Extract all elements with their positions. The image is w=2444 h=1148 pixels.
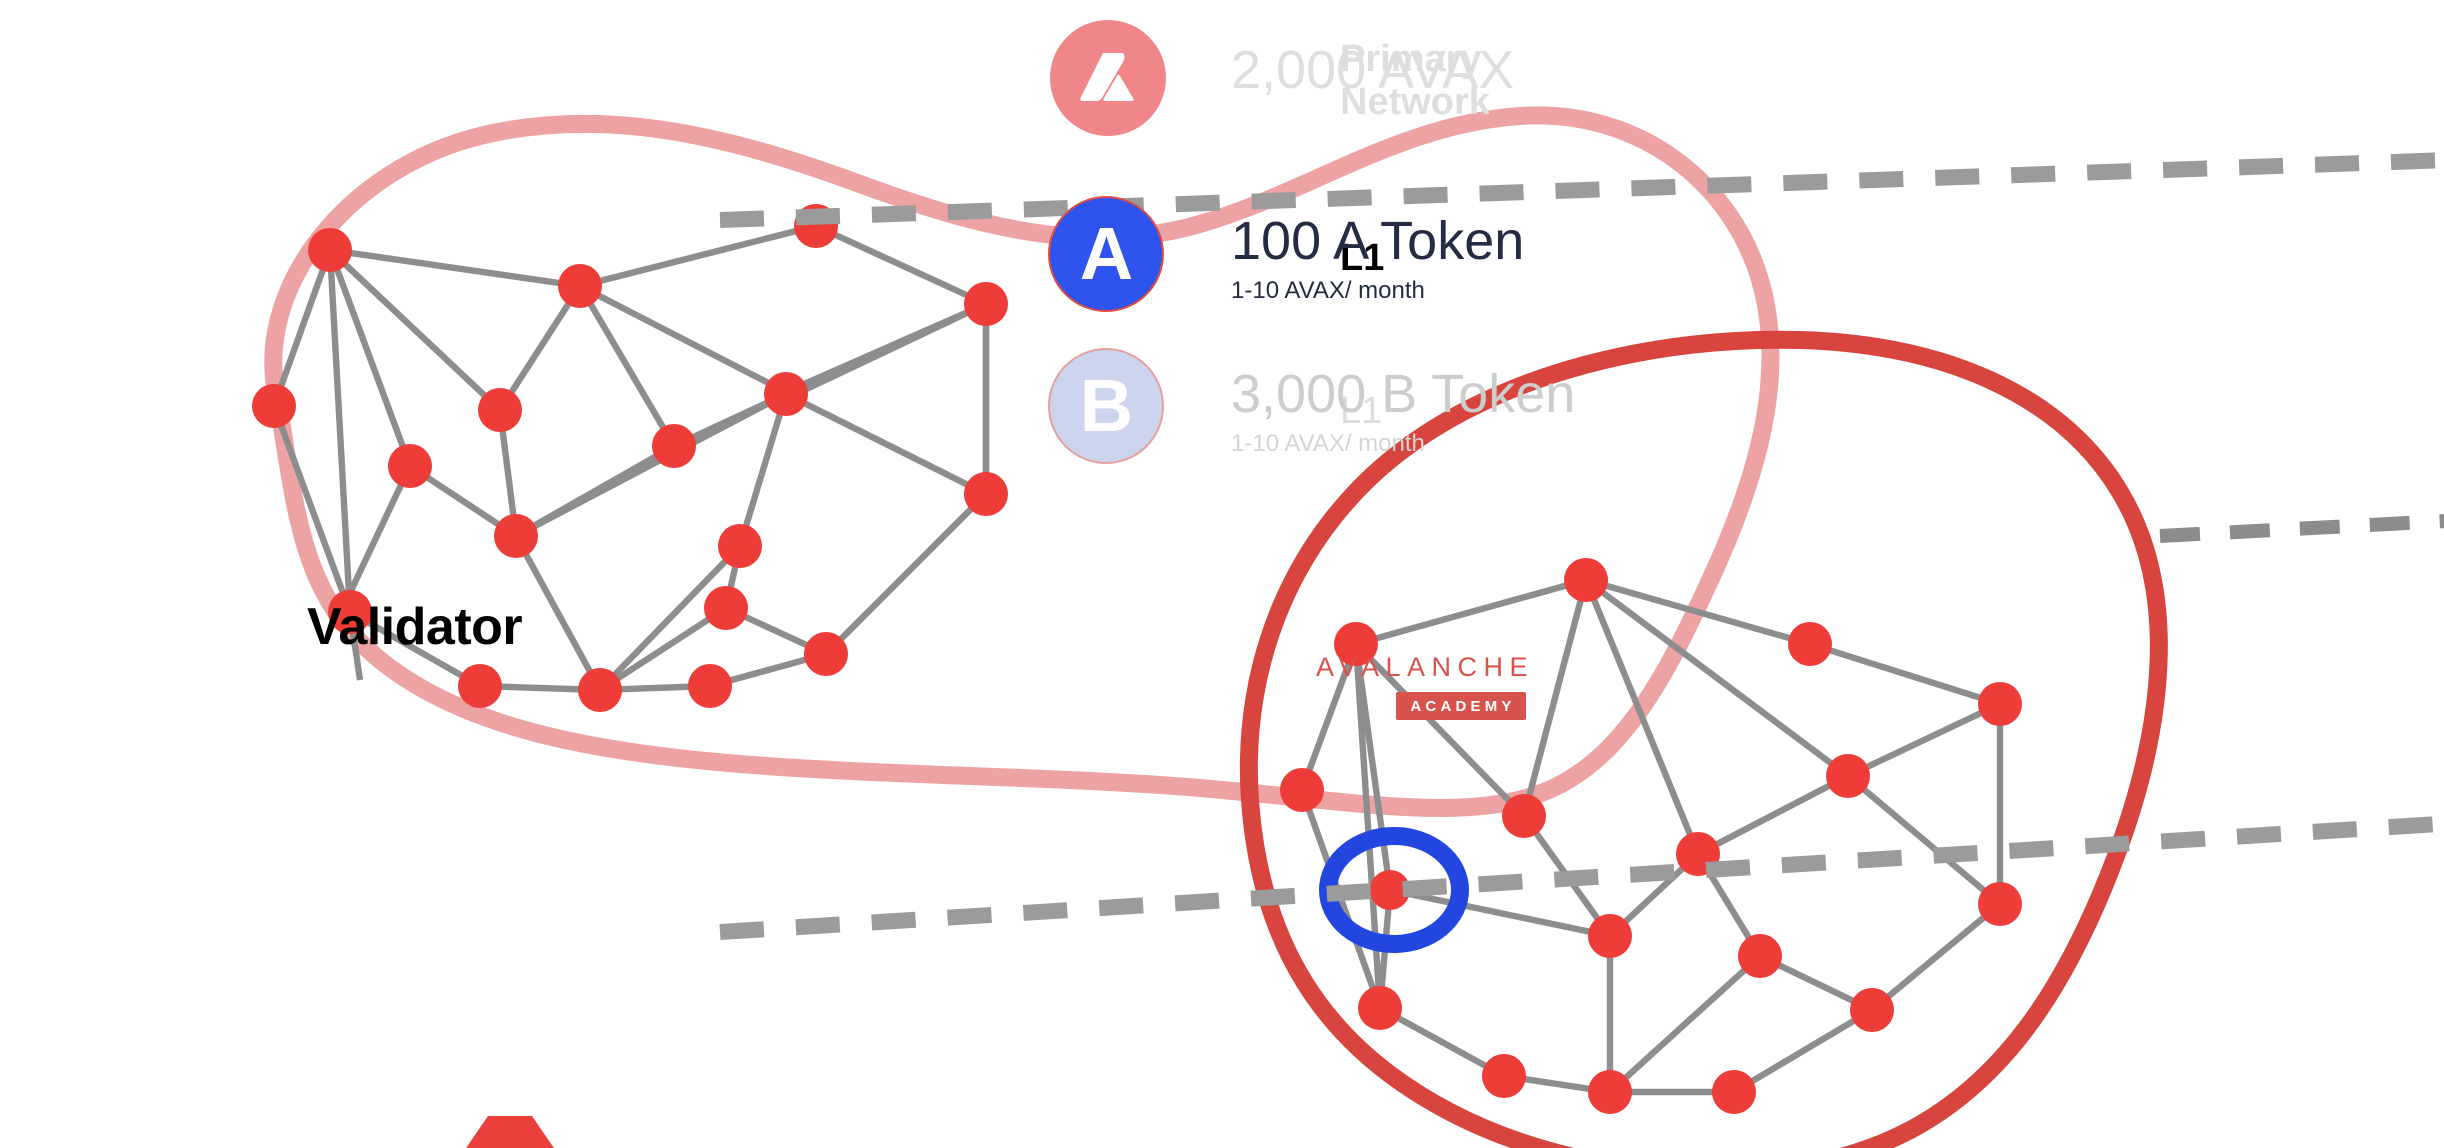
- diagram-vector-layer: [0, 0, 2444, 1148]
- footer-brand-academy-chip: ACADEMY: [1396, 692, 1526, 720]
- badge-token-a: A: [1048, 196, 1164, 312]
- amount-token-a: 100 A Token: [1231, 213, 1524, 270]
- badge-token-b: B: [1048, 348, 1164, 464]
- primary-network-graph: [252, 115, 1771, 808]
- footer-brand-academy: ACADEMY: [1406, 698, 1515, 715]
- fee-token-a: 1-10 AVAX/ month: [1231, 277, 1425, 305]
- legend-label-validator: Validator: [307, 597, 522, 657]
- network-outline-primary: [273, 115, 1770, 808]
- arrow-to-primary-network: [720, 156, 2444, 220]
- footer-brand-avalanche: AVALANCHE: [1316, 652, 1534, 683]
- diagram-canvas: Primary Network 2,000 AVAX L1 A 100 A To…: [0, 0, 2444, 1148]
- badge-letter-b: B: [1080, 369, 1132, 443]
- amount-primary-network: 2,000 AVAX: [1231, 42, 1514, 99]
- arrow-to-l1-b: [720, 816, 2444, 932]
- avalanche-logo-icon: [1071, 41, 1145, 115]
- badge-primary-network: [1050, 20, 1166, 136]
- arrow-to-l1-a: [2160, 514, 2444, 536]
- fee-token-b: 1-10 AVAX/ month: [1231, 430, 1425, 458]
- amount-token-b: 3,000 B Token: [1231, 366, 1575, 423]
- validator-hexagon-icon: [462, 1116, 564, 1148]
- l1-a-network-graph: [1249, 340, 2159, 1148]
- badge-letter-a: A: [1080, 217, 1132, 291]
